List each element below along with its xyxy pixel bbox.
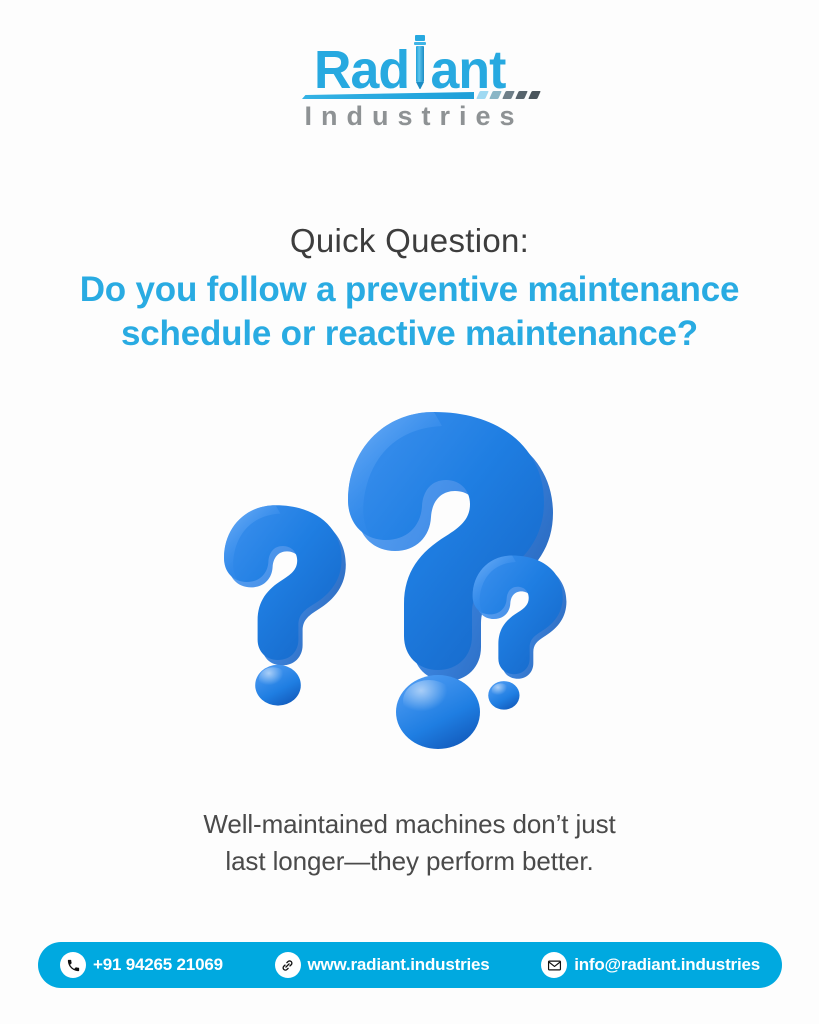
headline-line-2: schedule or reactive maintenance?: [121, 314, 698, 353]
headline-line-1: Do you follow a preventive maintenance: [80, 270, 740, 309]
tagline-line-1: Well-maintained machines don’t just: [203, 809, 615, 839]
question-marks-illustration: [0, 390, 819, 750]
tagline: Well-maintained machines don’t just last…: [0, 806, 819, 880]
contact-phone-label: +91 94265 21069: [93, 955, 223, 975]
envelope-icon: [541, 952, 567, 978]
contact-phone[interactable]: +91 94265 21069: [60, 952, 223, 978]
contact-website-label: www.radiant.industries: [308, 955, 490, 975]
footer-contact-bar: +91 94265 21069 www.radiant.industries i…: [38, 942, 782, 988]
page-title: Do you follow a preventive maintenance s…: [0, 268, 819, 356]
company-logo: Rad ant: [0, 34, 819, 93]
contact-email-label: info@radiant.industries: [574, 955, 760, 975]
contact-website[interactable]: www.radiant.industries: [275, 952, 490, 978]
logo-drill-bit-i-icon: [411, 35, 428, 89]
question-mark-right: [472, 556, 566, 710]
tagline-line-2: last longer—they perform better.: [225, 846, 593, 876]
contact-email[interactable]: info@radiant.industries: [541, 952, 760, 978]
phone-icon: [60, 952, 86, 978]
question-mark-left: [224, 505, 346, 705]
logo-subtitle: Industries: [0, 101, 819, 132]
eyebrow-text: Quick Question:: [0, 222, 819, 260]
logo-speed-line-icon: [0, 89, 819, 101]
logo-wordmark: Rad ant: [312, 34, 507, 90]
question-marks-svg: [190, 390, 630, 750]
poster-canvas: Rad ant Industries Quick Question: Do yo…: [0, 0, 819, 1024]
link-icon: [275, 952, 301, 978]
